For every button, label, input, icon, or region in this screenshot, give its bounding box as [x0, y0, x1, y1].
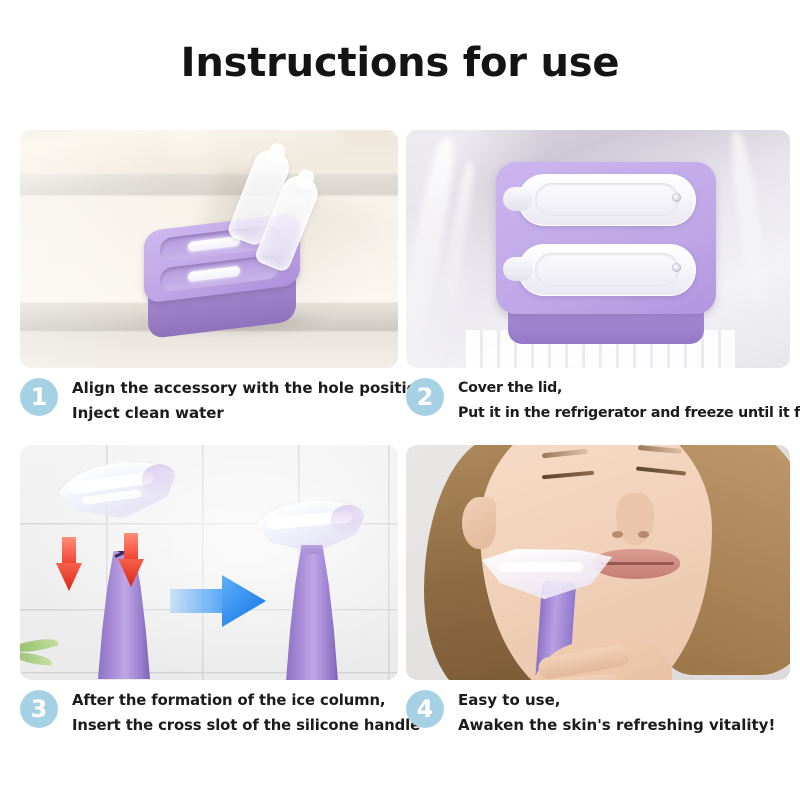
step-badge-1: 1 [20, 378, 58, 416]
step-badge-4: 4 [406, 690, 444, 728]
step-1-line-2: Inject clean water [72, 401, 433, 426]
step-4-line-1: Easy to use, [458, 688, 775, 713]
step-1-text: Align the accessory with the hole positi… [72, 376, 433, 426]
page-title: Instructions for use [0, 40, 800, 86]
step-3-caption: 3 After the formation of the ice column,… [20, 688, 400, 738]
step-4-text: Easy to use, Awaken the skin's refreshin… [458, 688, 775, 738]
closed-lid [518, 244, 696, 296]
lid-vent-hole [672, 193, 681, 202]
step-2-text: Cover the lid, Put it in the refrigerato… [458, 376, 800, 426]
down-arrow-icon [56, 537, 82, 591]
lid-tip [294, 167, 316, 192]
freezer-highlight [726, 130, 774, 330]
nostril [612, 531, 623, 538]
nostril [638, 531, 649, 538]
ice-tray-closed [496, 162, 716, 342]
silicone-handle [286, 545, 338, 680]
step-2-line-1: Cover the lid, [458, 376, 800, 401]
tray-top [496, 162, 716, 314]
step-1-image [20, 130, 398, 368]
lid-stem [503, 257, 533, 281]
step-3-image [20, 445, 398, 680]
step-1-caption: 1 Align the accessory with the hole posi… [20, 376, 400, 426]
lid-inner [535, 183, 679, 216]
ice-head [51, 454, 188, 528]
lip-line [598, 562, 674, 565]
counter-scene [20, 130, 398, 368]
step-2-caption: 2 Cover the lid, Put it in the refrigera… [406, 376, 800, 426]
step-badge-3: 3 [20, 690, 58, 728]
lid-stem [503, 187, 533, 211]
model-scene [406, 445, 790, 680]
step-3-line-2: Insert the cross slot of the silicone ha… [72, 713, 420, 738]
step-2-image [406, 130, 790, 368]
ice-tint [329, 503, 365, 536]
lid-inner [535, 253, 679, 286]
freezer-scene [406, 130, 790, 368]
ear [462, 497, 496, 549]
step-badge-2: 2 [406, 378, 444, 416]
step-2-line-2: Put it in the refrigerator and freeze un… [458, 401, 800, 426]
step-1-line-1: Align the accessory with the hole positi… [72, 376, 433, 401]
step-4-caption: 4 Easy to use, Awaken the skin's refresh… [406, 688, 800, 738]
instructions-page: Instructions for use [0, 0, 800, 800]
step-4-image [406, 445, 790, 680]
nose [616, 493, 654, 545]
closed-lid [518, 174, 696, 226]
lid-vent-hole [672, 263, 681, 272]
step-3-text: After the formation of the ice column, I… [72, 688, 420, 738]
down-arrow-icon [118, 533, 144, 587]
step-4-line-2: Awaken the skin's refreshing vitality! [458, 713, 775, 738]
bathroom-tile-scene [20, 445, 398, 680]
step-3-line-1: After the formation of the ice column, [72, 688, 420, 713]
ice-tint [140, 462, 178, 496]
right-arrow-icon [170, 575, 266, 627]
assembly-after [258, 501, 398, 680]
